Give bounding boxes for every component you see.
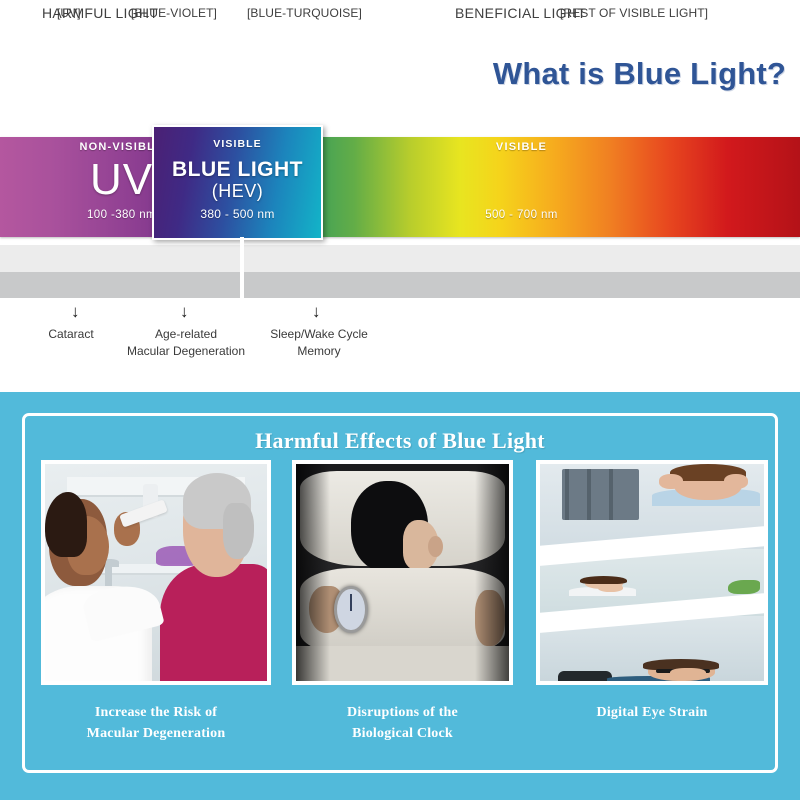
- blue-light-wavelength-label: 380 - 500 nm: [154, 207, 321, 221]
- visible-visibility-label: VISIBLE: [243, 141, 800, 153]
- person-sleeping-photo: [292, 460, 513, 685]
- blue-light-name-label: BLUE LIGHT: [154, 158, 321, 181]
- down-arrow-icon: ↓: [180, 303, 189, 320]
- visible-wavelength-label: 500 - 700 nm: [243, 209, 800, 221]
- page-title: What is Blue Light?: [493, 56, 786, 92]
- blue-light-callout-box: VISIBLE BLUE LIGHT (HEV) 380 - 500 nm: [152, 125, 323, 240]
- effect-sleep-line2: Memory: [270, 343, 368, 360]
- effect-cataract-line1: Cataract: [48, 326, 93, 343]
- category-blue-violet: [BLUE-VIOLET]: [131, 6, 217, 20]
- light-spectrum-chart: NON-VISIBLE UV 100 -380 nm VISIBLE 500 -…: [0, 137, 800, 237]
- effect-label-cataract: Cataract: [48, 326, 93, 343]
- card1-caption-line2: Macular Degeneration: [41, 723, 271, 744]
- effect-amd-line1: Age-related: [127, 326, 245, 343]
- harmful-effects-title: Harmful Effects of Blue Light: [0, 428, 800, 454]
- category-uv: [UV]: [57, 6, 81, 20]
- card1-caption-line1: Increase the Risk of: [41, 702, 271, 723]
- effect-card-caption: Increase the Risk of Macular Degeneratio…: [41, 702, 271, 744]
- tired-office-workers-collage-photo: [536, 460, 768, 685]
- effect-card-caption: Digital Eye Strain: [536, 702, 768, 723]
- eye-exam-photo: [41, 460, 271, 685]
- harmful-beneficial-divider: [240, 237, 244, 301]
- down-arrow-icon: ↓: [71, 303, 80, 320]
- harmful-effects-panel: Harmful Effects of Blue Light Increase t…: [0, 392, 800, 800]
- card2-caption-line1: Disruptions of the: [292, 702, 513, 723]
- category-rest-of-visible-light: [REST OF VISIBLE LIGHT]: [560, 6, 708, 20]
- effect-sleep-line1: Sleep/Wake Cycle: [270, 326, 368, 343]
- effect-card-caption: Disruptions of the Biological Clock: [292, 702, 513, 744]
- effect-label-sleep-wake-cycle: Sleep/Wake Cycle Memory: [270, 326, 368, 360]
- effect-label-macular-degeneration: Age-related Macular Degeneration: [127, 326, 245, 360]
- blue-light-acronym-label: (HEV): [154, 181, 321, 202]
- light-category-band: [0, 272, 800, 298]
- effect-card-digital-eye-strain: Digital Eye Strain: [536, 460, 768, 723]
- light-classification-band: [0, 245, 800, 272]
- category-blue-turquoise: [BLUE-TURQUOISE]: [247, 6, 362, 20]
- blue-light-visibility-label: VISIBLE: [154, 138, 321, 150]
- card3-caption-line1: Digital Eye Strain: [536, 702, 768, 723]
- down-arrow-icon: ↓: [312, 303, 321, 320]
- effect-amd-line2: Macular Degeneration: [127, 343, 245, 360]
- effect-card-biological-clock: Disruptions of the Biological Clock: [292, 460, 513, 744]
- effect-card-macular-degeneration: Increase the Risk of Macular Degeneratio…: [41, 460, 271, 744]
- card2-caption-line2: Biological Clock: [292, 723, 513, 744]
